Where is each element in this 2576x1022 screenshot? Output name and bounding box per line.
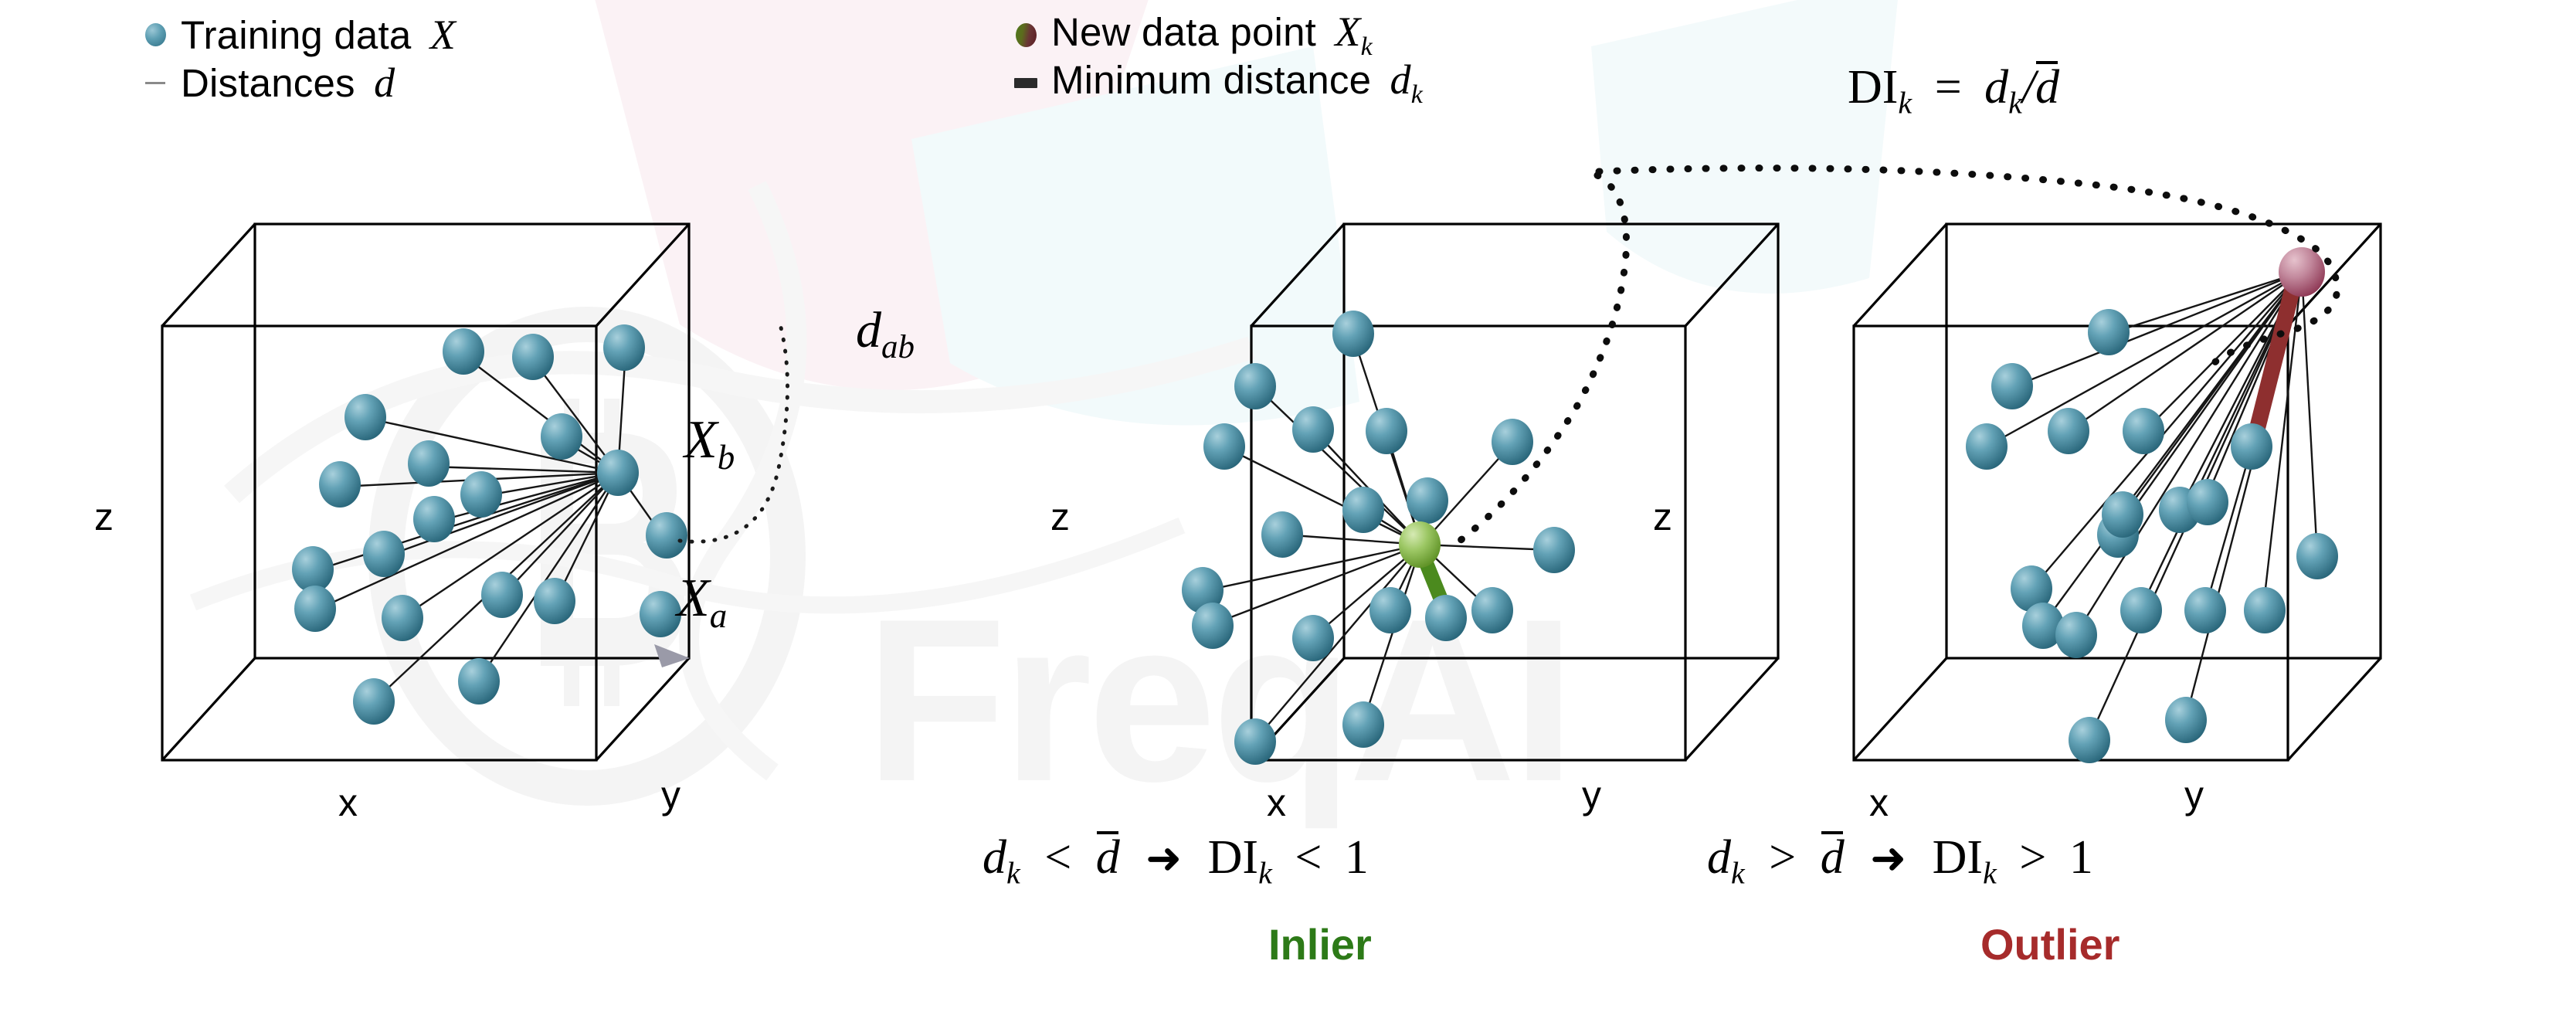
legend-label-training-data: Training data X: [181, 11, 456, 59]
legend-label-distances: Distances d: [181, 59, 395, 107]
axis-label-y-panel1: y: [661, 772, 680, 817]
nearest-point-inlier: [1425, 595, 1467, 641]
panel-outlier-cube: [1854, 224, 2381, 760]
di-formula: DIk = dk/d: [1848, 60, 2059, 121]
axis-label-y-panel3: y: [2184, 772, 2204, 817]
new-point-outlier: [2279, 247, 2325, 297]
thin-gray-dash-icon: [130, 82, 181, 84]
point-xa-label: Xa: [677, 568, 727, 636]
panel-inlier-points: [1182, 311, 1575, 765]
caption-inlier: dk < d ➜ DIk < 1: [983, 830, 1369, 891]
distance-dab-label: dab: [856, 301, 915, 366]
green-maroon-dot-icon: [1000, 23, 1051, 47]
dk-leader-to-outlier: [1599, 168, 2337, 363]
verdict-outlier: Outlier: [1980, 919, 2120, 969]
point-xa: [597, 450, 639, 496]
dk-leader-to-inlier: [1460, 175, 1627, 541]
axis-label-z-panel1: z: [94, 494, 114, 539]
new-point-inlier: [1399, 521, 1441, 568]
point-xb-label: Xb: [684, 409, 735, 477]
legend-item-distances[interactable]: Distances d: [130, 59, 456, 107]
caption-outlier: dk > d ➜ DIk > 1: [1707, 830, 2093, 891]
figure-root: FreqAI: [0, 0, 2576, 1022]
axis-label-x-panel3: x: [1869, 780, 1889, 825]
legend-label-minimum-distance: Minimum distance dk: [1051, 56, 1423, 110]
axis-label-y-panel2: y: [1582, 772, 1601, 817]
verdict-inlier: Inlier: [1268, 919, 1372, 969]
axis-label-z-panel3: z: [1653, 494, 1672, 539]
thick-dark-dash-icon: [1000, 78, 1051, 88]
panel-outlier-distance-lines: [1987, 272, 2317, 738]
teal-sphere-dot-icon: [130, 23, 181, 46]
legend-item-training-data[interactable]: Training data X: [130, 11, 456, 59]
axis-label-x-panel1: x: [338, 780, 358, 825]
legend-label-new-data-point: New data point Xk: [1051, 8, 1373, 62]
nearest-point-outlier: [2231, 423, 2272, 470]
axis-label-z-panel2: z: [1050, 494, 1070, 539]
panel-training-points: [292, 324, 687, 725]
point-xb: [646, 512, 687, 559]
legend-newpoint: New data point Xk Minimum distance dk: [1000, 11, 1423, 107]
legend-training: Training data X Distances d: [130, 11, 456, 107]
legend-item-minimum-distance[interactable]: Minimum distance dk: [1000, 59, 1423, 107]
axis-label-x-panel2: x: [1267, 780, 1286, 825]
legend-item-new-data-point[interactable]: New data point Xk: [1000, 11, 1423, 59]
